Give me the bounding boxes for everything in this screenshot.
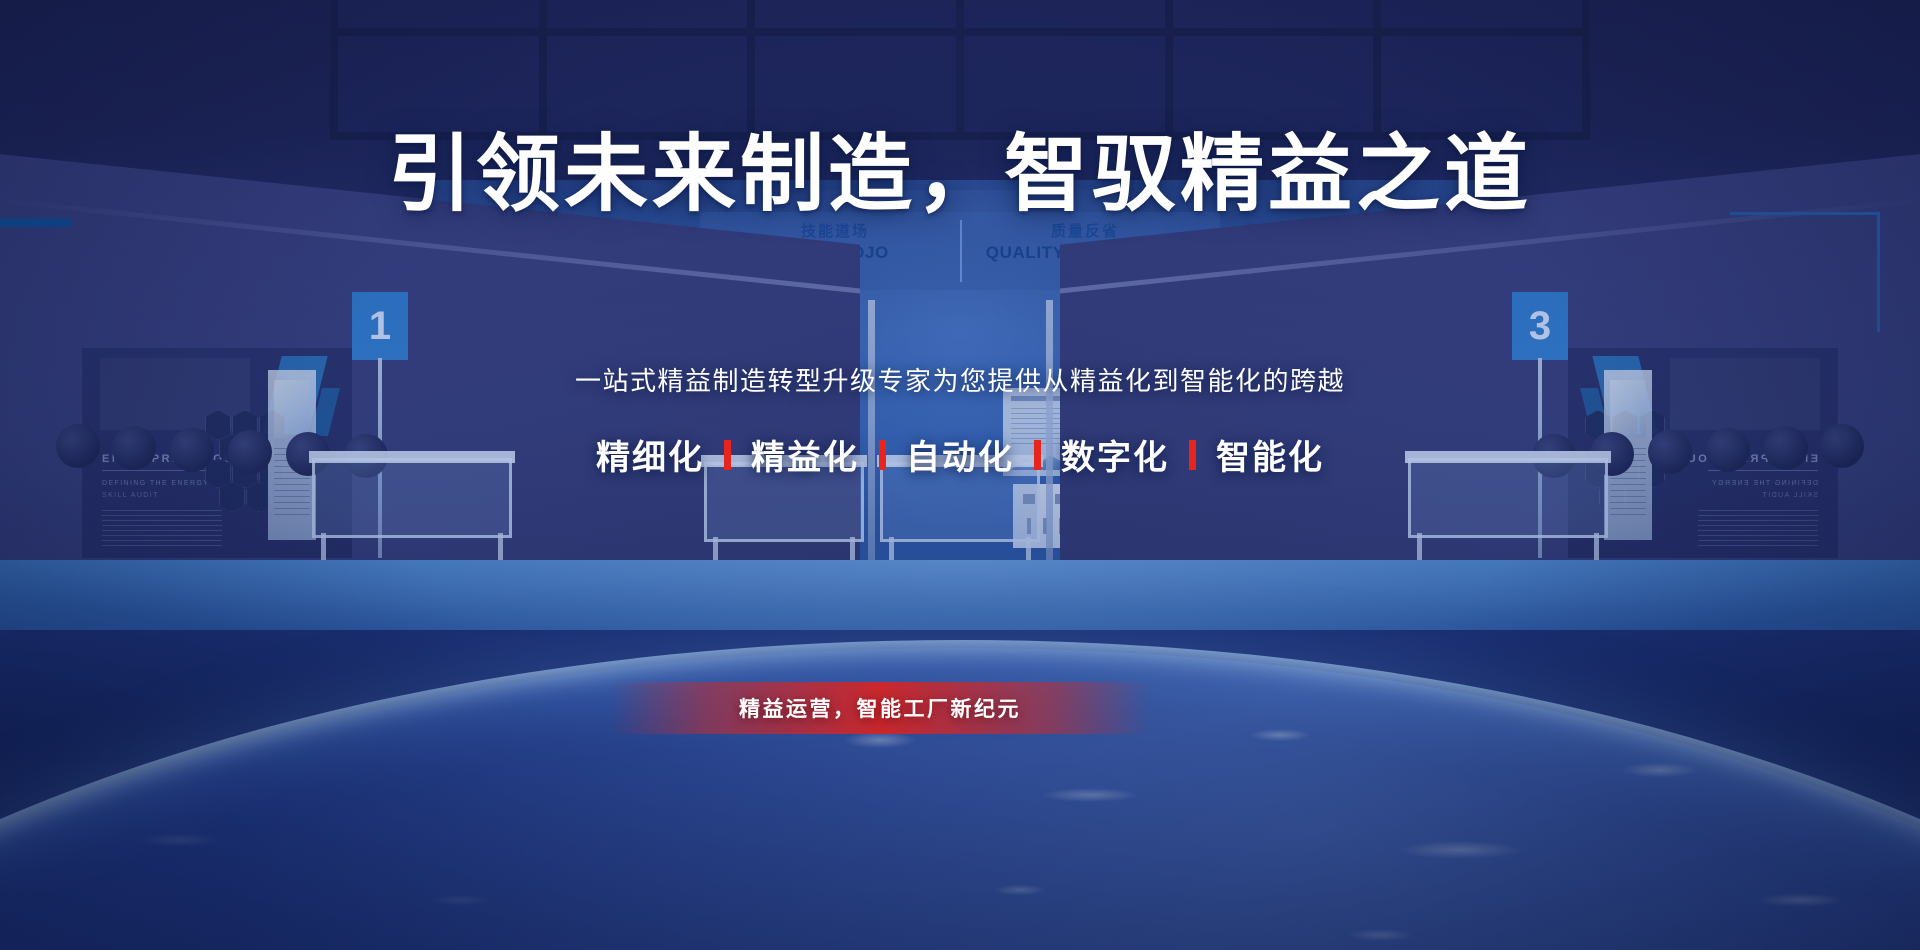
page-subtitle: 一站式精益制造转型升级专家为您提供从精益化到智能化的跨越 — [0, 364, 1920, 398]
window-pane — [964, 0, 1165, 28]
page-title: 引领未来制造，智驭精益之道 — [0, 126, 1920, 222]
window-pane — [338, 36, 539, 132]
window-pane — [1173, 0, 1374, 28]
keyword-item-digitalization: 数字化 — [1061, 430, 1169, 479]
keyword-list: 精细化 精益化 自动化 数字化 智能化 — [0, 430, 1920, 479]
decor-corner-frame-right — [1730, 212, 1880, 332]
keyword-separator-icon — [879, 440, 886, 470]
panel-body-text — [1698, 510, 1818, 550]
window-pane — [338, 0, 539, 28]
station-number-sign-1: 1 — [352, 292, 408, 360]
window-pane — [964, 36, 1165, 132]
keyword-separator-icon — [1189, 440, 1196, 470]
enterprise-course-line2: SKILL AUDIT — [102, 492, 159, 499]
window-pane — [1173, 36, 1374, 132]
earth-cloud-layer-secondary — [60, 790, 760, 950]
keyword-item-refinement: 精细化 — [596, 430, 704, 479]
hero-banner: 创新 COMMANT DOGO 责任 COMMANT DOGO 责任 COMMA… — [0, 0, 1920, 950]
window-pane — [547, 36, 748, 132]
tagline-ribbon: 精益运营，智能工厂新纪元 — [610, 682, 1150, 734]
window-pane — [547, 0, 748, 28]
sign-divider — [960, 220, 962, 282]
keyword-item-intelligence: 智能化 — [1216, 430, 1324, 479]
station-number-sign-3: 3 — [1512, 292, 1568, 360]
window-pane — [755, 36, 956, 132]
window-pane — [1381, 0, 1582, 28]
keyword-separator-icon — [724, 440, 731, 470]
earth-cloud-layer — [760, 700, 1920, 950]
enterprise-course-line1: DEFINING THE ENERGY — [1711, 480, 1818, 487]
tagline-text: 精益运营，智能工厂新纪元 — [739, 693, 1021, 723]
enterprise-course-line2: SKILL AUDIT — [1761, 492, 1818, 499]
hex-badge-icon — [219, 482, 245, 512]
keyword-item-lean: 精益化 — [751, 430, 859, 479]
window-pane — [1381, 36, 1582, 132]
enterprise-course-line1: DEFINING THE ENERGY — [102, 480, 209, 487]
panel-body-text — [102, 510, 222, 550]
keyword-separator-icon — [1034, 440, 1041, 470]
keyword-item-automation: 自动化 — [906, 430, 1014, 479]
window-pane — [755, 0, 956, 28]
ceiling-window-grid — [330, 0, 1590, 140]
